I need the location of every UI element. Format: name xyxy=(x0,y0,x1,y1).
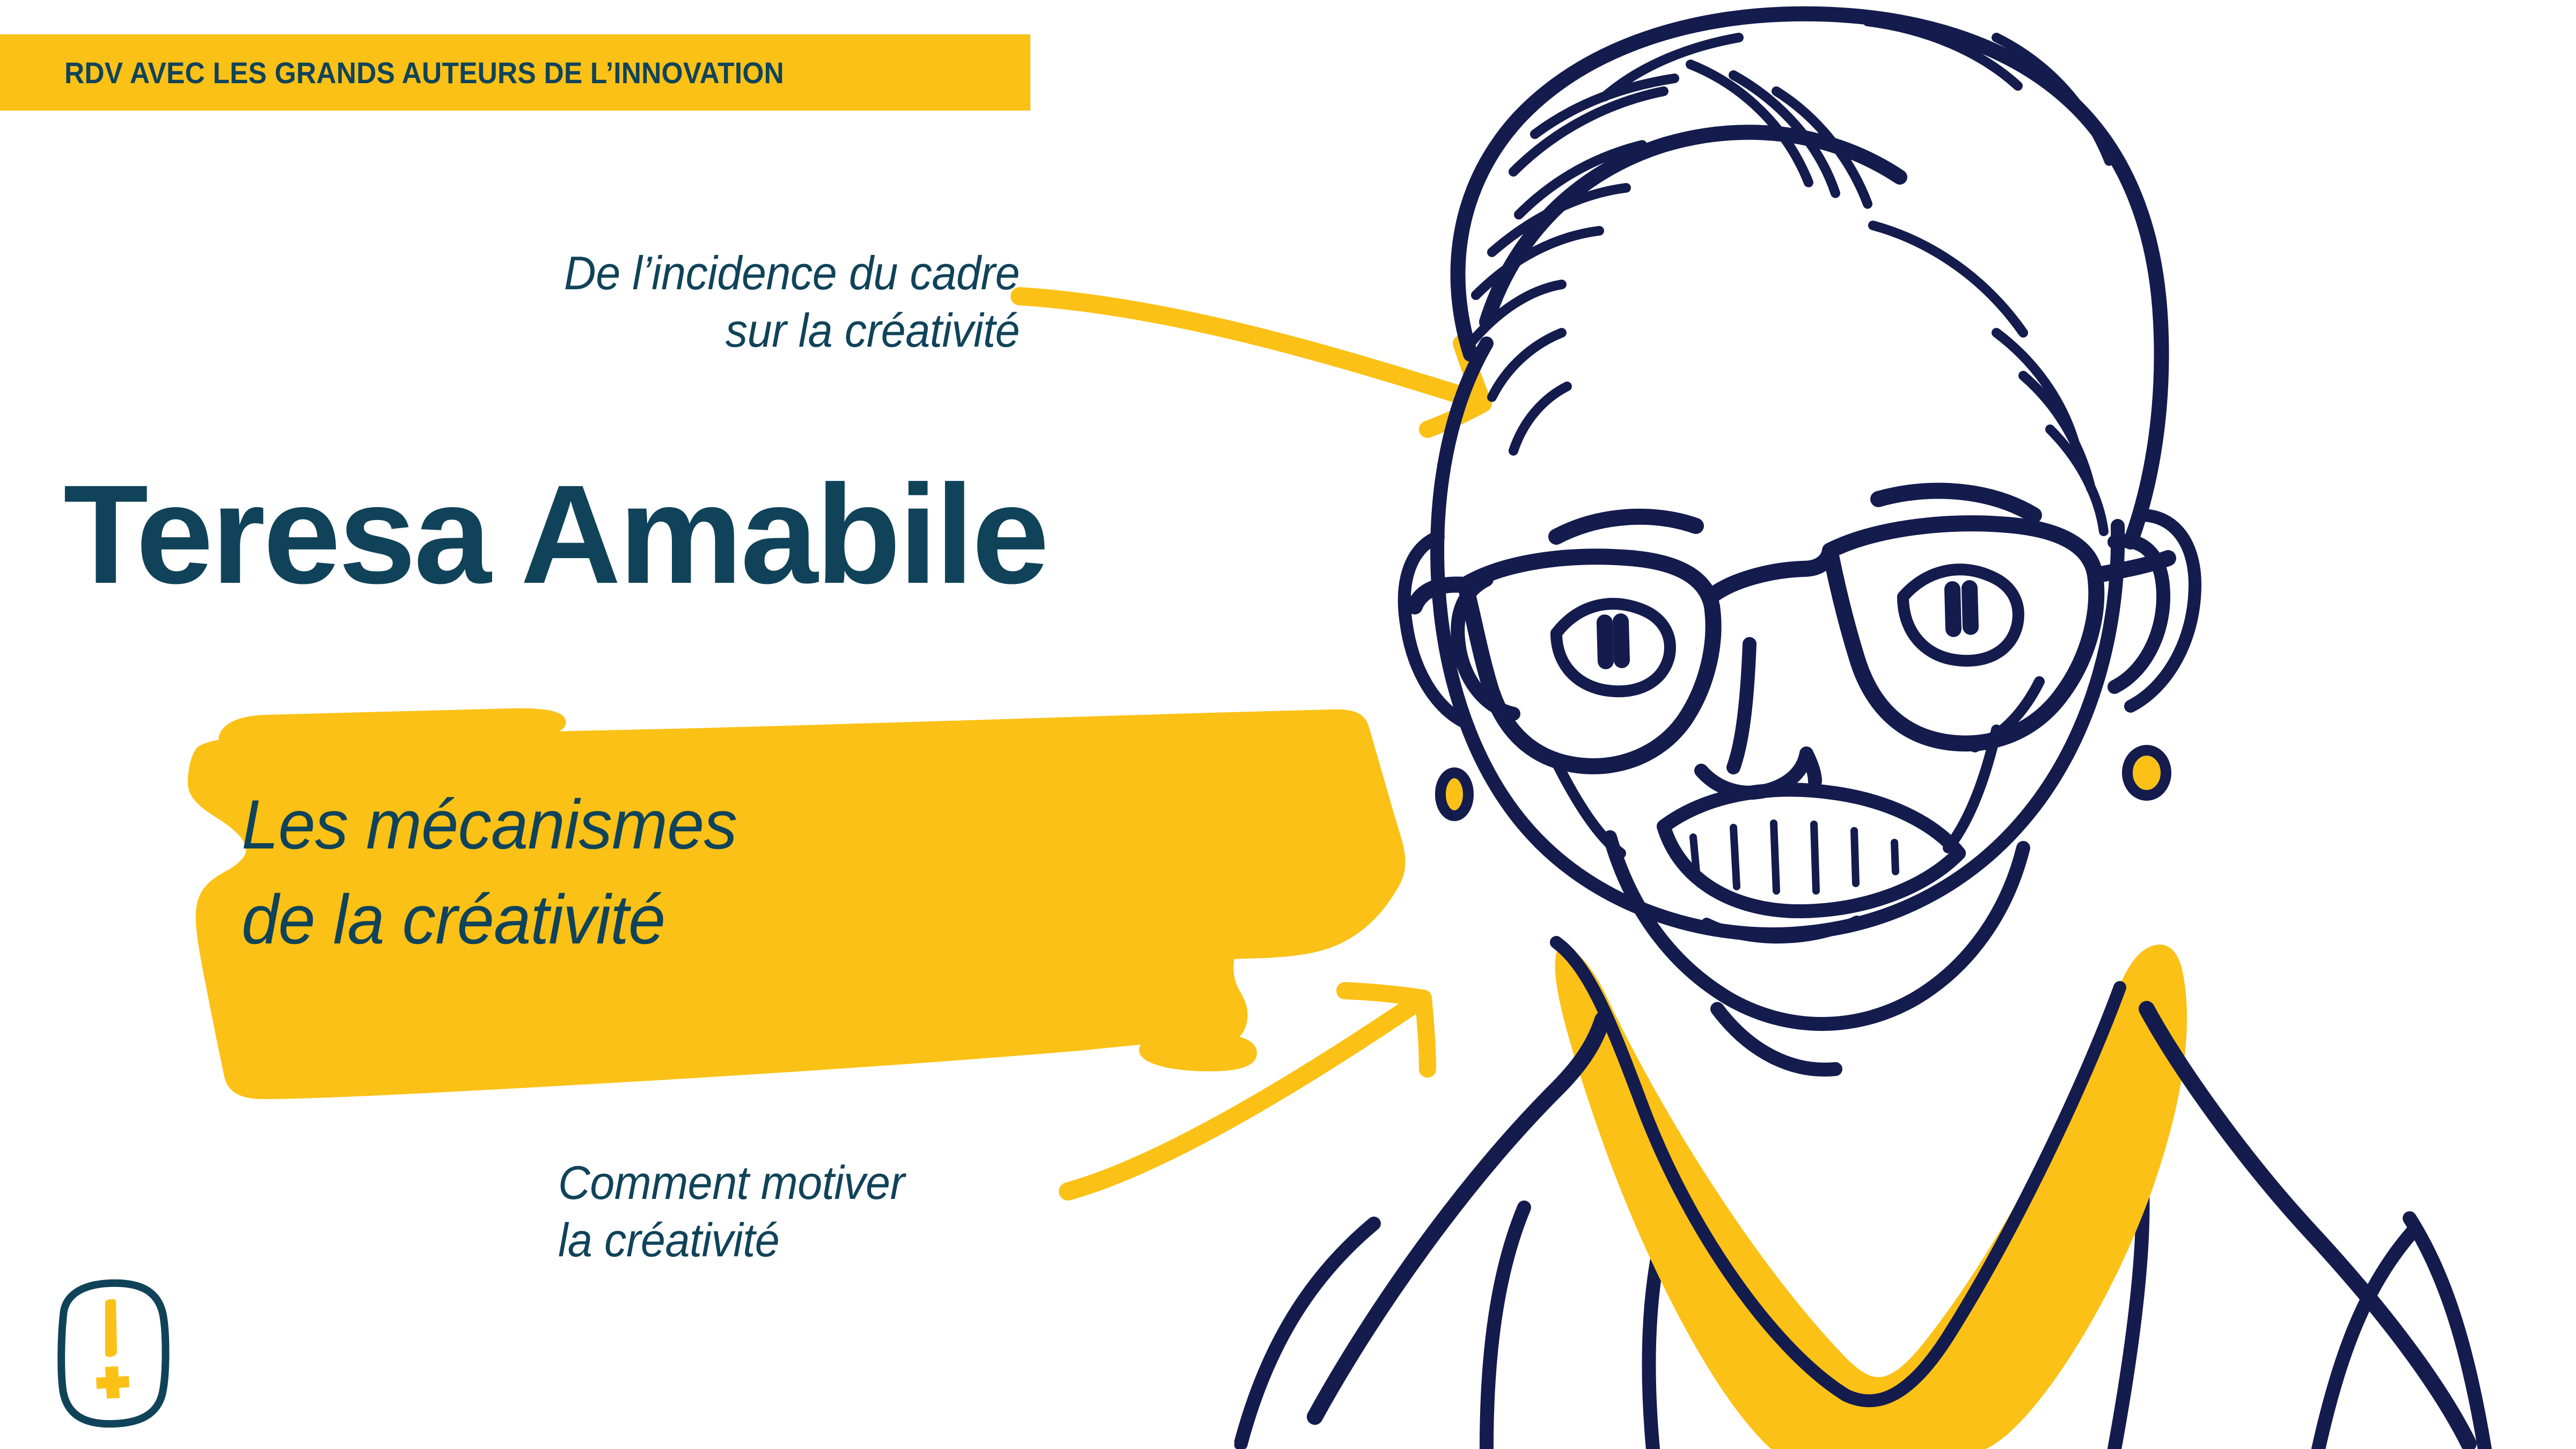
portrait-illustration xyxy=(1234,0,2576,1449)
hair xyxy=(1458,14,2162,542)
callout-bottom-line2: la créativité xyxy=(558,1211,1113,1269)
eyebrow-banner-label: RDV AVEC LES GRANDS AUTEURS DE L’INNOVAT… xyxy=(64,55,784,90)
hair-strands xyxy=(1470,21,2109,531)
callout-top: De l’incidence du cadre sur la créativit… xyxy=(263,244,1020,360)
nose xyxy=(1701,644,1815,793)
page-title: Teresa Amabile xyxy=(63,464,1047,605)
eyebrow-banner: RDV AVEC LES GRANDS AUTEURS DE L’INNOVAT… xyxy=(0,34,1030,111)
subtitle-text: Les mécanismes de la créativité xyxy=(241,777,1272,967)
subtitle-line1: Les mécanismes xyxy=(241,777,1272,872)
callout-top-line1: De l’incidence du cadre xyxy=(263,244,1020,302)
callout-bottom: Comment motiver la créativité xyxy=(558,1154,1113,1269)
exclamation-plus-logo[interactable] xyxy=(38,1275,193,1436)
eyeglasses xyxy=(1415,523,2168,766)
poster-canvas: RDV AVEC LES GRANDS AUTEURS DE L’INNOVAT… xyxy=(0,0,2576,1449)
subtitle-line2: de la créativité xyxy=(241,872,1272,967)
logo-exclamation-bar xyxy=(105,1299,117,1357)
callout-top-line2: sur la créativité xyxy=(263,302,1020,359)
teeth xyxy=(1693,823,1896,891)
logo-plus-mark xyxy=(96,1366,129,1399)
callout-bottom-line1: Comment motiver xyxy=(558,1154,1113,1211)
